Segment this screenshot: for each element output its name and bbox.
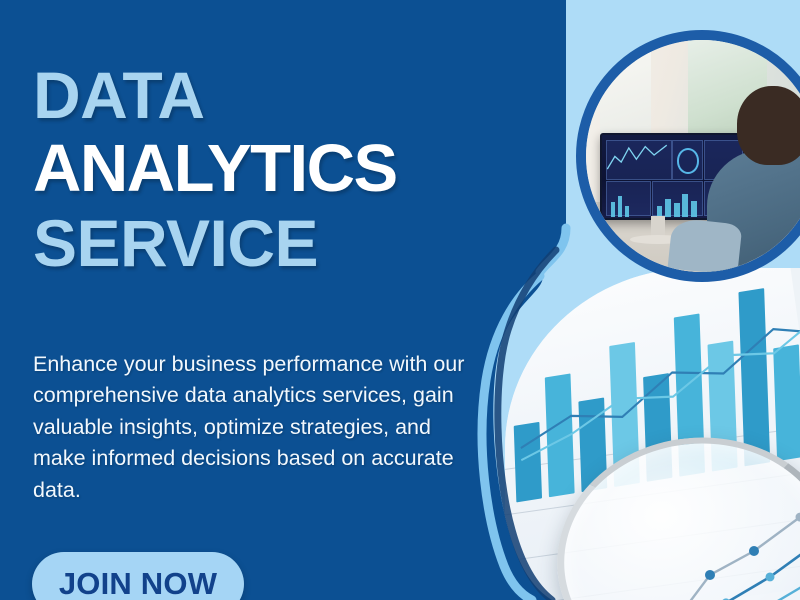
headline-line-1: DATA (33, 58, 503, 132)
chart-photo (505, 268, 800, 600)
page-title: DATA ANALYTICS SERVICE (33, 58, 503, 280)
join-now-button[interactable]: JOIN NOW (32, 552, 244, 600)
headline-line-2: ANALYTICS (33, 132, 503, 206)
body-text: Enhance your business performance with o… (33, 349, 485, 507)
person-head (737, 86, 800, 165)
person-arm (667, 217, 742, 275)
text-content: DATA ANALYTICS SERVICE Enhance your busi… (0, 0, 520, 600)
analyst-circle-photo (576, 30, 800, 282)
headline-line-3: SERVICE (33, 206, 503, 280)
data-analytics-banner: DATA ANALYTICS SERVICE Enhance your busi… (0, 0, 800, 600)
